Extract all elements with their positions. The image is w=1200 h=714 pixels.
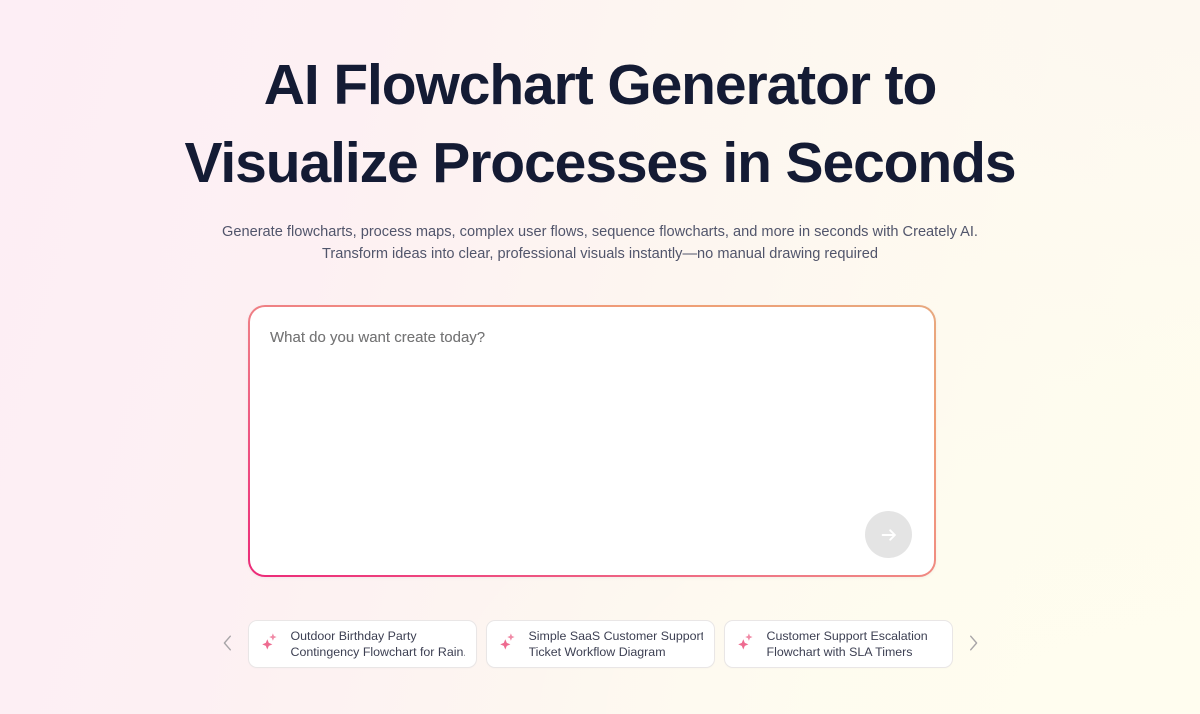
suggestion-card-label-line-2: Contingency Flowchart for Rain...	[291, 644, 465, 660]
page-title-line-1: AI Flowchart Generator to	[0, 46, 1200, 124]
page-title: AI Flowchart Generator to Visualize Proc…	[0, 46, 1200, 202]
chevron-left-icon	[222, 634, 234, 655]
suggestion-card[interactable]: Simple SaaS Customer Support Ticket Work…	[486, 620, 715, 668]
prompt-box: What do you want create today?	[248, 305, 936, 577]
suggestion-card-label: Outdoor Birthday Party Contingency Flowc…	[291, 628, 465, 660]
suggestion-card-label-line-2: Flowchart with SLA Timers	[767, 644, 928, 660]
hero-page: AI Flowchart Generator to Visualize Proc…	[0, 0, 1200, 714]
prompt-input[interactable]	[250, 307, 934, 575]
suggestion-card-label-line-1: Outdoor Birthday Party	[291, 628, 465, 644]
suggestion-card-label-line-1: Simple SaaS Customer Support	[529, 628, 703, 644]
sparkle-icon	[261, 632, 280, 656]
page-title-line-2: Visualize Processes in Seconds	[0, 124, 1200, 202]
suggestion-card-label-line-1: Customer Support Escalation	[767, 628, 928, 644]
suggestion-card[interactable]: Customer Support Escalation Flowchart wi…	[724, 620, 953, 668]
carousel-prev-button[interactable]	[217, 629, 239, 659]
suggestion-card-label: Simple SaaS Customer Support Ticket Work…	[529, 628, 703, 660]
submit-prompt-button[interactable]	[865, 511, 912, 558]
sparkle-icon	[737, 632, 756, 656]
suggestion-card-label-line-2: Ticket Workflow Diagram	[529, 644, 703, 660]
suggestions-carousel: Outdoor Birthday Party Contingency Flowc…	[0, 620, 1200, 668]
suggestion-card-label: Customer Support Escalation Flowchart wi…	[767, 628, 928, 660]
page-subtitle-line-1: Generate flowcharts, process maps, compl…	[0, 221, 1200, 243]
page-subtitle: Generate flowcharts, process maps, compl…	[0, 221, 1200, 265]
page-subtitle-line-2: Transform ideas into clear, professional…	[0, 243, 1200, 265]
prompt-box-inner: What do you want create today?	[250, 307, 934, 575]
carousel-next-button[interactable]	[962, 629, 984, 659]
arrow-right-icon	[878, 524, 900, 546]
suggestion-card[interactable]: Outdoor Birthday Party Contingency Flowc…	[248, 620, 477, 668]
chevron-right-icon	[967, 634, 979, 655]
sparkle-icon	[499, 632, 518, 656]
